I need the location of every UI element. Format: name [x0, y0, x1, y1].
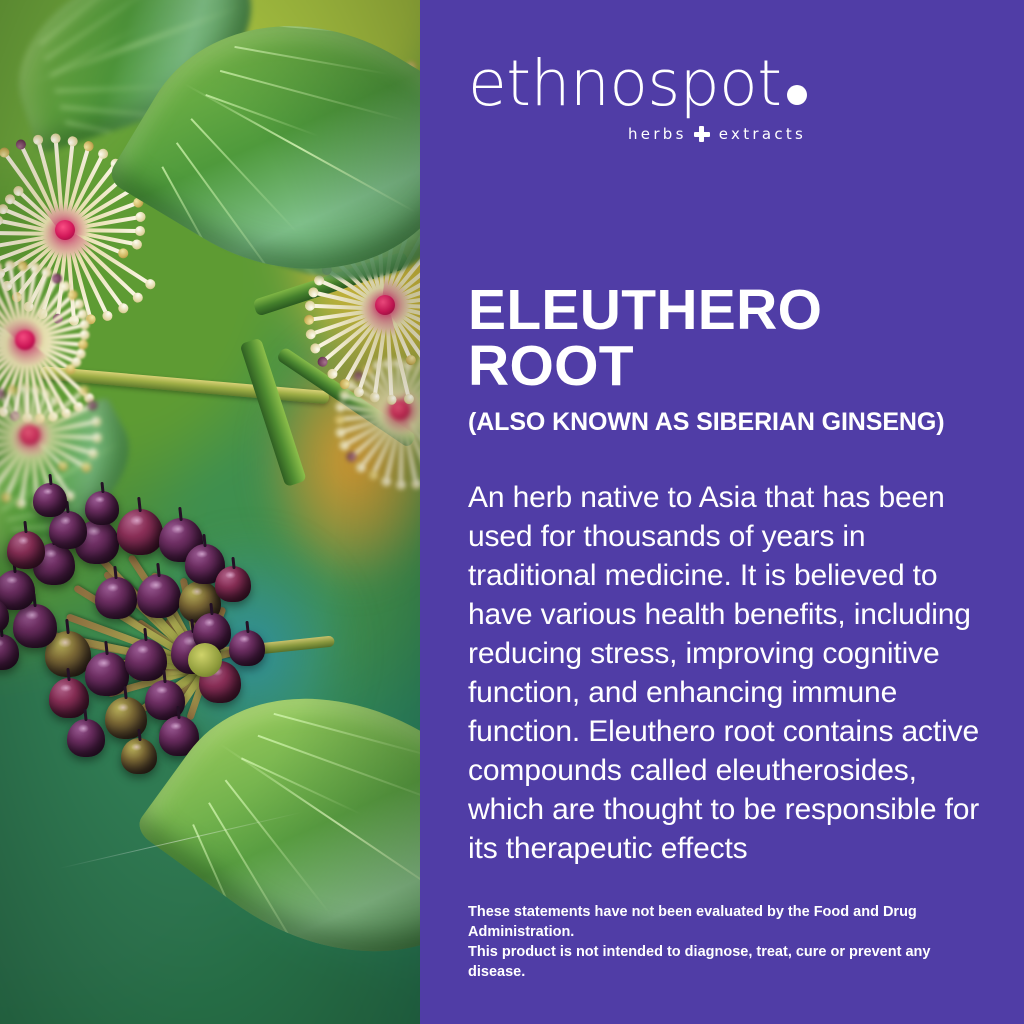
brand-logo[interactable]: ethnospot herbs extracts — [468, 52, 807, 143]
tagline-left-text: herbs — [628, 125, 687, 143]
eleuthero-plant-photo — [0, 0, 420, 1024]
brand-tagline: herbs extracts — [628, 125, 807, 143]
promo-card: ethnospot herbs extracts ELEUTHERO ROOT … — [0, 0, 1024, 1024]
tagline-right-text: extracts — [719, 125, 806, 143]
fda-disclaimer: These statements have not been evaluated… — [468, 902, 984, 982]
berry-umbel-hub — [188, 643, 222, 677]
logo-wordmark: ethnospot — [468, 52, 807, 115]
dot-icon — [787, 85, 807, 105]
description-text: An herb native to Asia that has been use… — [468, 478, 992, 868]
page-title: ELEUTHERO ROOT — [468, 283, 822, 395]
logo-text: ethnospot — [468, 52, 781, 115]
info-panel: ethnospot herbs extracts ELEUTHERO ROOT … — [420, 0, 1024, 1024]
page-subtitle: (ALSO KNOWN AS SIBERIAN GINSENG) — [468, 408, 944, 437]
plus-cross-icon — [694, 126, 710, 142]
